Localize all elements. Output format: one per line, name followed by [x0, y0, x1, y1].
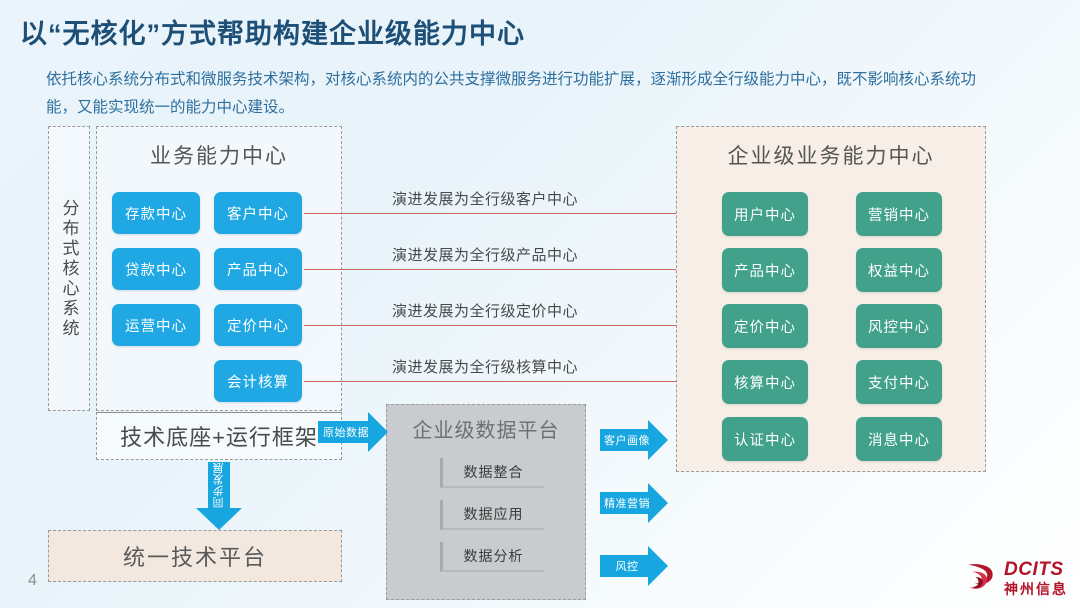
raw-data-arrow: 原始数据 — [318, 412, 388, 452]
blue-card-chanpin[interactable]: 产品中心 — [214, 248, 302, 290]
same-step-arrow-label: 同步发展 — [187, 466, 251, 504]
blue-card-daikuan[interactable]: 贷款中心 — [112, 248, 200, 290]
evolution-label-3: 演进发展为全行级定价中心 — [392, 300, 578, 321]
company-logo: DCITS 神州信息 — [963, 560, 1068, 596]
evolution-label-1: 演进发展为全行级客户中心 — [392, 188, 578, 209]
green-card-dingjia[interactable]: 定价中心 — [722, 304, 808, 348]
logo-text-english: DCITS — [1004, 560, 1068, 579]
logo-text-group: DCITS 神州信息 — [1004, 560, 1068, 596]
green-card-yingxiao[interactable]: 营销中心 — [856, 192, 942, 236]
dcits-logo-icon — [963, 561, 999, 595]
data-platform-item-application[interactable]: 数据应用 — [440, 500, 544, 530]
blue-card-dingjia[interactable]: 定价中心 — [214, 304, 302, 346]
output-arrow-label-3: 风控 — [604, 556, 650, 576]
blue-card-kuaijihesuan[interactable]: 会计核算 — [214, 360, 302, 402]
same-step-arrow-head — [196, 508, 242, 530]
page-title: 以“无核化”方式帮助构建企业级能力中心 — [20, 12, 525, 51]
data-platform-item-integration[interactable]: 数据整合 — [440, 458, 544, 488]
logo-text-chinese: 神州信息 — [1004, 582, 1068, 596]
output-arrow-precision-marketing: 精准营销 — [600, 483, 668, 523]
data-platform-title: 企业级数据平台 — [386, 414, 586, 443]
slide-canvas: 以“无核化”方式帮助构建企业级能力中心 依托核心系统分布式和微服务技术架构，对核… — [0, 0, 1080, 608]
raw-data-arrow-label: 原始数据 — [322, 422, 370, 442]
output-arrow-head-2 — [648, 483, 668, 523]
evolution-line-3 — [304, 325, 718, 326]
green-card-zhifu[interactable]: 支付中心 — [856, 360, 942, 404]
green-card-xiaoxi[interactable]: 消息中心 — [856, 417, 942, 461]
green-card-yonghu[interactable]: 用户中心 — [722, 192, 808, 236]
tech-base-label: 技术底座+运行框架 — [96, 412, 342, 460]
page-subtitle: 依托核心系统分布式和微服务技术架构，对核心系统内的公共支撑微服务进行功能扩展，逐… — [46, 66, 976, 122]
raw-data-arrow-head — [368, 412, 388, 452]
output-arrow-head-3 — [648, 546, 668, 586]
blue-card-cunkuan[interactable]: 存款中心 — [112, 192, 200, 234]
evolution-label-4: 演进发展为全行级核算中心 — [392, 356, 578, 377]
evolution-line-4 — [304, 381, 718, 382]
green-card-fengkong[interactable]: 风控中心 — [856, 304, 942, 348]
same-step-arrow: 同步发展 — [196, 462, 242, 530]
core-system-label: 分布式核心系统 — [48, 126, 90, 411]
green-card-chanpin[interactable]: 产品中心 — [722, 248, 808, 292]
evolution-line-2 — [304, 269, 718, 270]
output-arrow-risk-control: 风控 — [600, 546, 668, 586]
page-number: 4 — [28, 572, 37, 590]
green-card-renzheng[interactable]: 认证中心 — [722, 417, 808, 461]
business-capability-title: 业务能力中心 — [96, 140, 342, 170]
blue-card-yunying[interactable]: 运营中心 — [112, 304, 200, 346]
output-arrow-label-1: 客户画像 — [604, 430, 650, 450]
green-card-hesuan[interactable]: 核算中心 — [722, 360, 808, 404]
enterprise-capability-title: 企业级业务能力中心 — [676, 140, 986, 170]
blue-card-kehu[interactable]: 客户中心 — [214, 192, 302, 234]
data-platform-item-analysis[interactable]: 数据分析 — [440, 542, 544, 572]
output-arrow-label-2: 精准营销 — [604, 493, 650, 513]
unified-platform-label: 统一技术平台 — [48, 530, 342, 582]
output-arrow-head-1 — [648, 420, 668, 460]
output-arrow-customer-profile: 客户画像 — [600, 420, 668, 460]
green-card-quanyi[interactable]: 权益中心 — [856, 248, 942, 292]
evolution-line-1 — [304, 213, 718, 214]
evolution-label-2: 演进发展为全行级产品中心 — [392, 244, 578, 265]
